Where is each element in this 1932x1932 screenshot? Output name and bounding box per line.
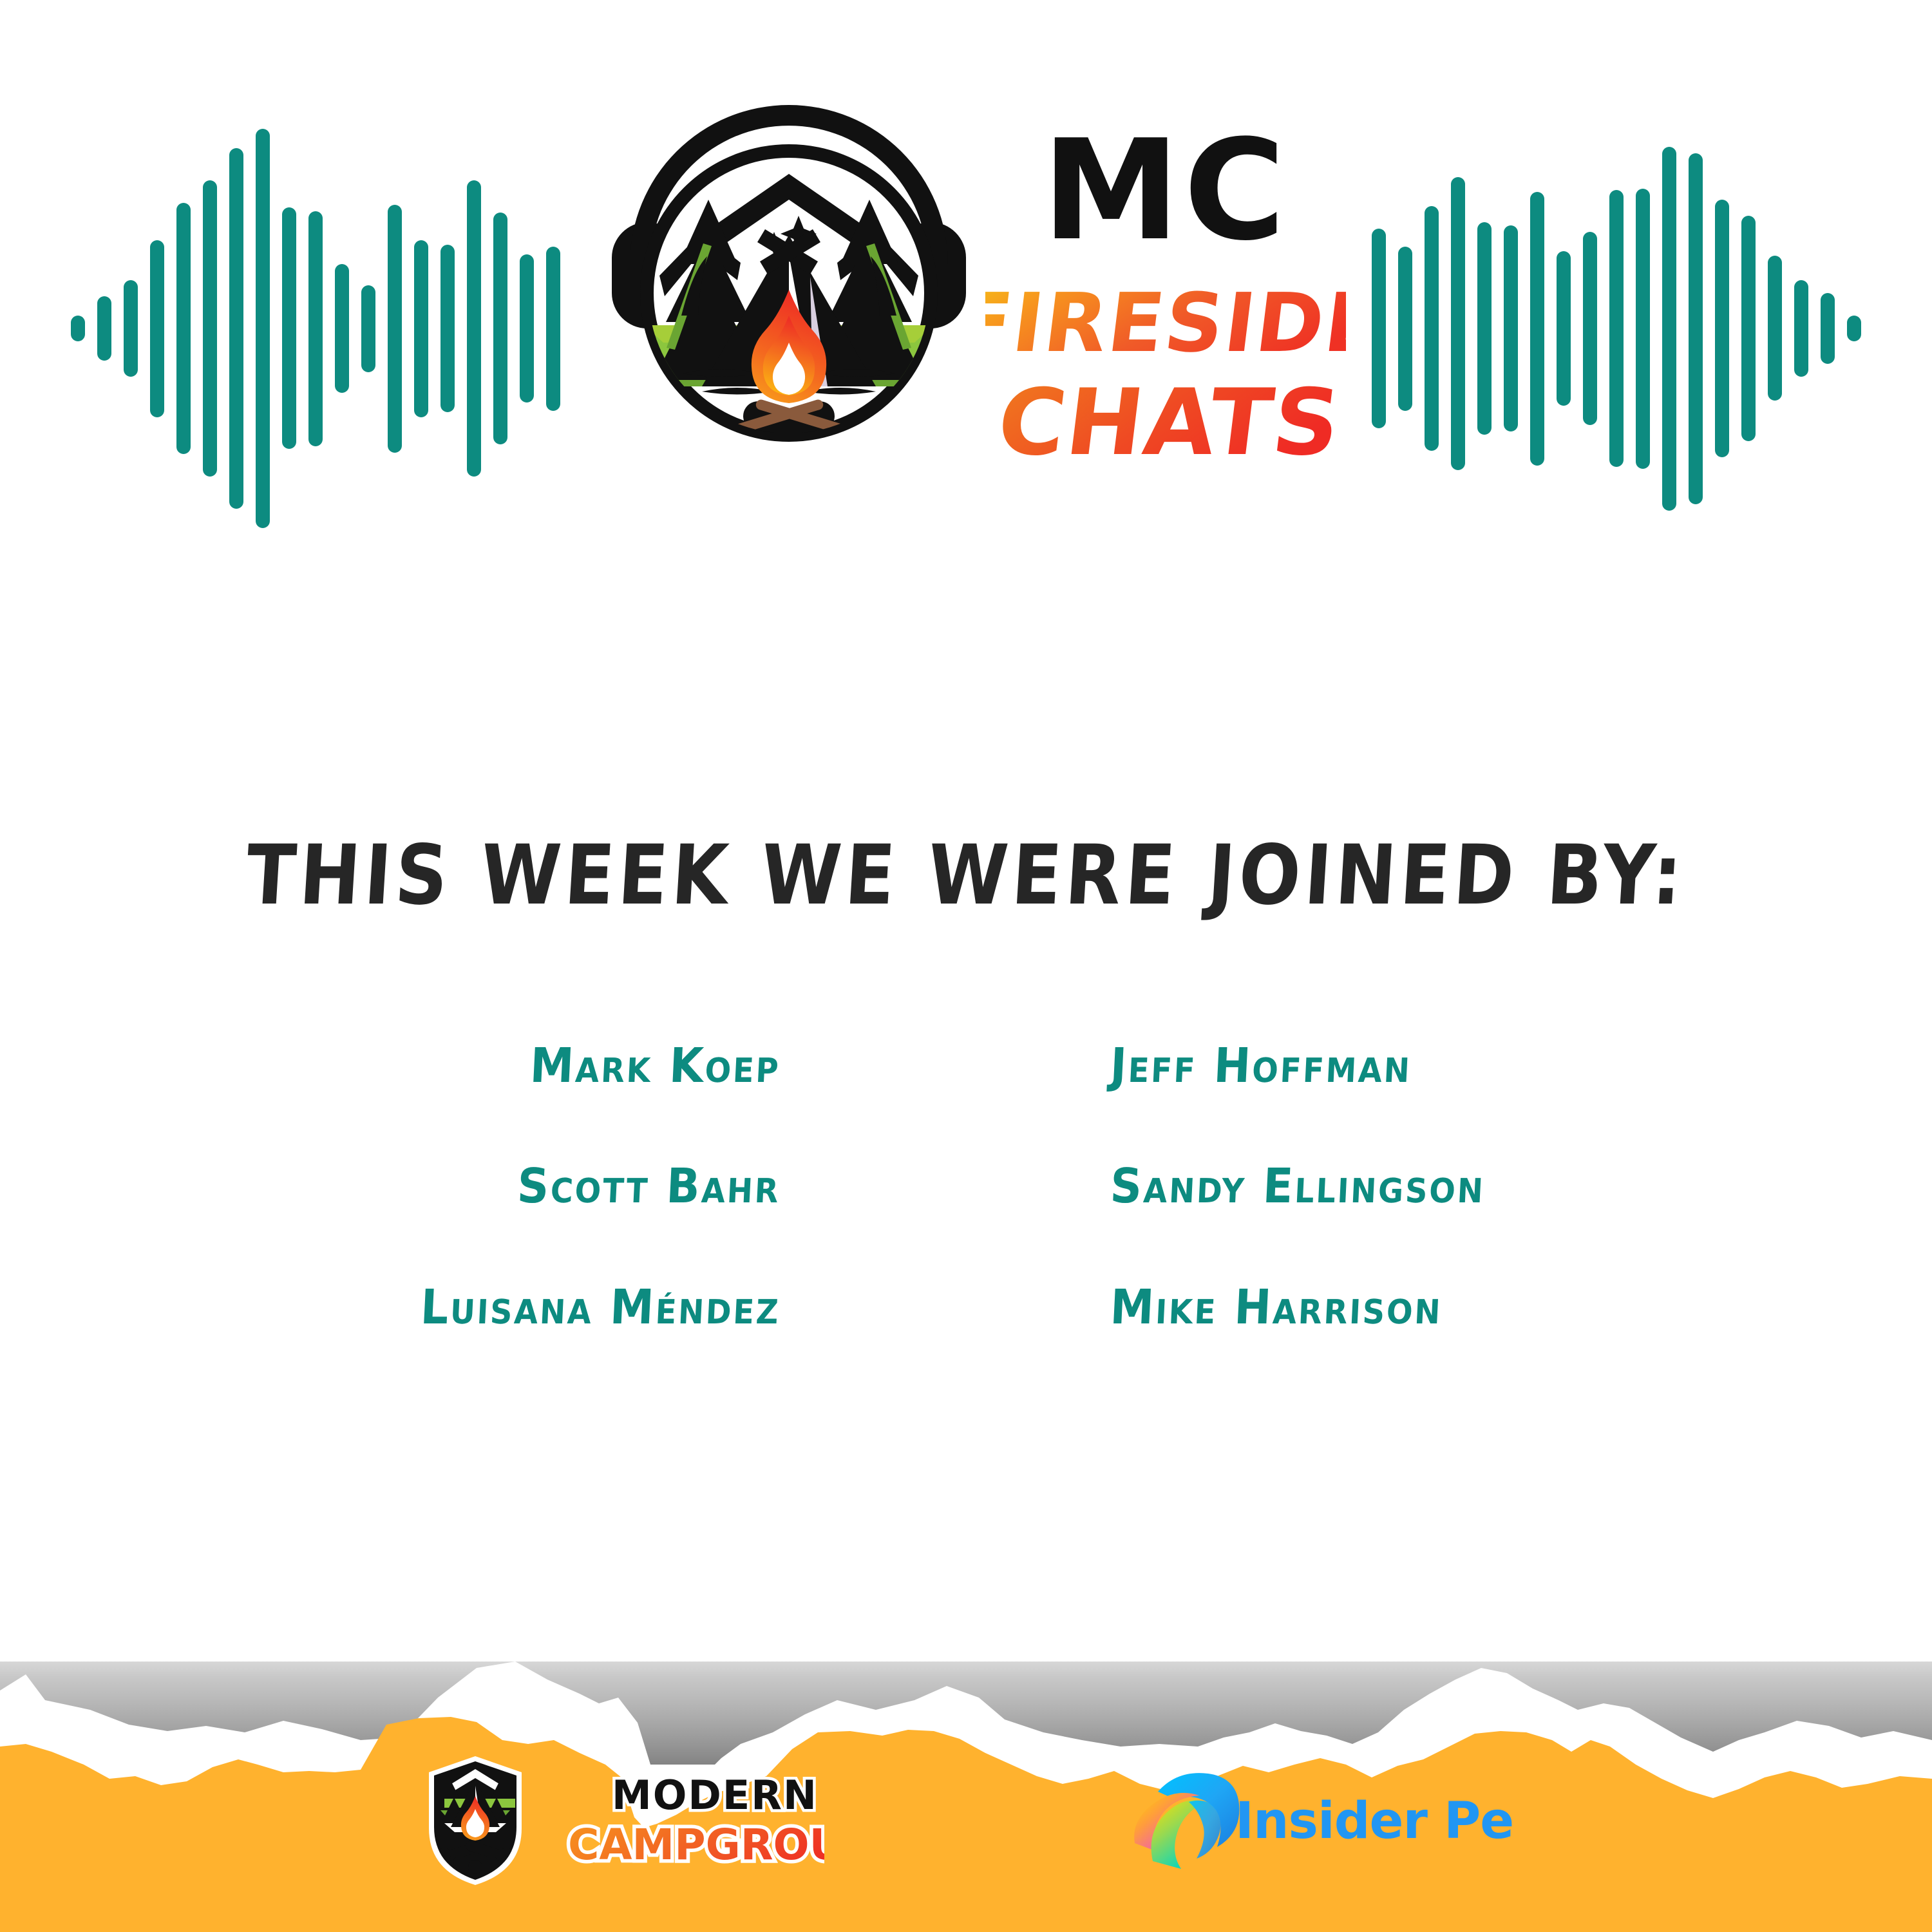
- insider-perks-logo: Insider Perks: [1127, 1766, 1513, 1875]
- campfire-badge-icon: [429, 1756, 522, 1885]
- header-banner: MC FIRESIDE CHATS: [0, 0, 1932, 580]
- guest-name: Mark Koep: [346, 1038, 942, 1094]
- wordmark-line-mc: MC: [1042, 109, 1289, 271]
- audio-waveform-icon-left: [71, 122, 580, 535]
- page-title: THIS WEEK WE WERE JOINED BY:: [244, 835, 1689, 917]
- guest-name: Scott Bahr: [346, 1159, 942, 1215]
- modern-campground-line1: MODERN: [612, 1772, 818, 1819]
- headline-section: THIS WEEK WE WERE JOINED BY:: [0, 835, 1932, 917]
- mc-fireside-chats-logo: MC FIRESIDE CHATS: [605, 90, 1365, 502]
- modern-campground-logo: MODERN CAMPGROUND: [419, 1756, 824, 1885]
- wordmark-line-fireside: FIRESIDE: [985, 276, 1346, 370]
- insider-perks-wordmark: Insider Perks: [1235, 1792, 1513, 1850]
- guest-name: Sandy Ellingson: [990, 1159, 1586, 1215]
- social-card-canvas: MC FIRESIDE CHATS: [0, 0, 1932, 1932]
- guest-name: Mike Harrison: [990, 1280, 1586, 1336]
- guest-name: Luisana Méndez: [346, 1280, 942, 1336]
- modern-campground-line2: CAMPGROUND: [568, 1820, 824, 1870]
- insider-perks-swoosh-icon: [1134, 1773, 1239, 1869]
- guest-name: Jeff Hoffman: [990, 1038, 1586, 1094]
- footer-logo-row: MODERN CAMPGROUND: [0, 1759, 1932, 1882]
- audio-waveform-icon-right: [1372, 122, 1880, 535]
- guest-list: Mark Koep Jeff Hoffman Scott Bahr Sandy …: [322, 1038, 1610, 1336]
- mc-fireside-chats-wordmark: MC FIRESIDE CHATS: [985, 106, 1346, 486]
- footer-band: MODERN CAMPGROUND: [0, 1662, 1932, 1932]
- wordmark-line-chats: CHATS: [992, 369, 1346, 475]
- campfire-headphones-badge-icon: [605, 103, 972, 489]
